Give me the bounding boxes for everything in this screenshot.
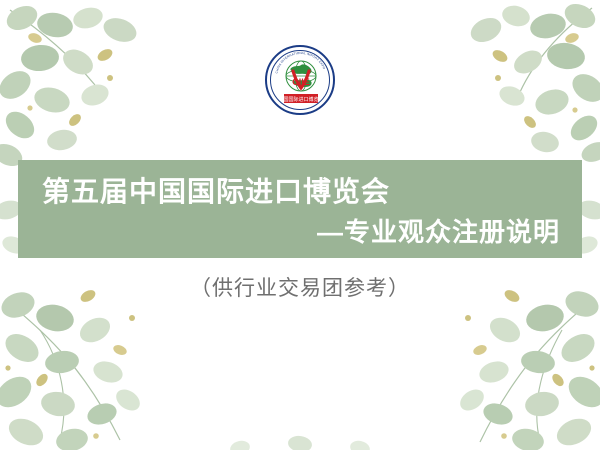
svg-text:CIIE: CIIE — [292, 77, 310, 87]
svg-text:中国国际进口博览会: 中国国际进口博览会 — [278, 96, 323, 103]
title-band: 第五届中国国际进口博览会 —专业观众注册说明 — [18, 160, 582, 258]
slide-canvas: CIIE CHINA INTERNATIONAL IMPORT EXPO 中国国… — [0, 0, 600, 450]
page-subtitle-line: —专业观众注册说明 — [317, 212, 560, 249]
ciie-logo: CIIE CHINA INTERNATIONAL IMPORT EXPO 中国国… — [265, 45, 335, 115]
audience-note: （供行业交易团参考） — [0, 272, 600, 302]
logo-artwork: CIIE CHINA INTERNATIONAL IMPORT EXPO 中国国… — [271, 51, 330, 110]
page-title: 第五届中国国际进口博览会 — [42, 170, 390, 210]
logo-inner-disc: CIIE CHINA INTERNATIONAL IMPORT EXPO 中国国… — [270, 50, 330, 110]
